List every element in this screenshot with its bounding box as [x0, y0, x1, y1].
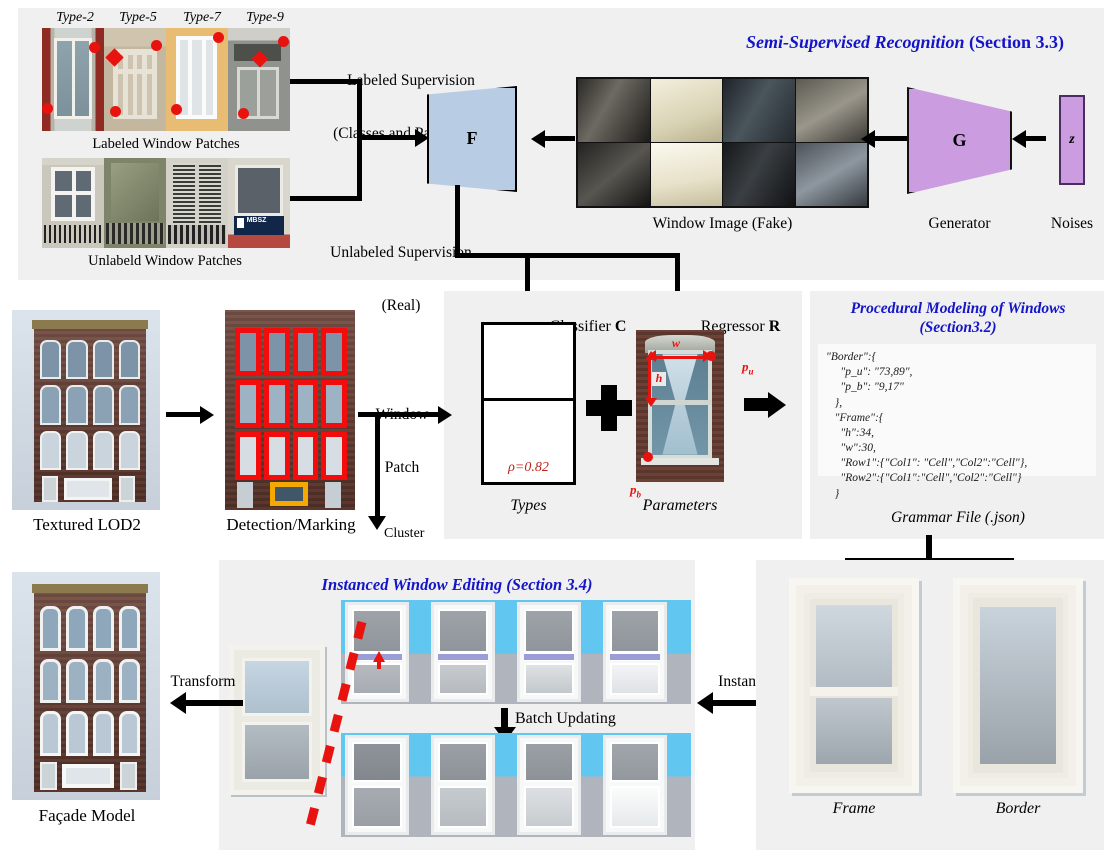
lod2-window: [93, 385, 114, 424]
detection-box: [293, 432, 319, 480]
lod2-window: [93, 340, 114, 379]
detection-box: [293, 328, 319, 376]
fake-tile: [723, 79, 795, 142]
lod2-cornice: [32, 320, 148, 329]
fake-tile: [796, 79, 868, 142]
updated-lower-sash: [610, 786, 660, 828]
figure-root: Type-2 Type-5 Type-7 Type-9: [0, 0, 1119, 857]
red-dashed-separator: [300, 618, 380, 840]
editing-row-bottom: [341, 733, 691, 837]
unlabeled-window-patches: MBSZ: [42, 158, 290, 248]
detection-box: [264, 328, 290, 376]
semi-supervised-title-main: Semi-Supervised Recognition: [746, 32, 965, 52]
supervision-bracket-bottom: [290, 196, 362, 201]
semi-supervised-title-section: (Section 3.3): [965, 32, 1064, 52]
detection-box: [321, 380, 347, 428]
updated-upper-sash: [438, 742, 488, 782]
lod2-windows: [40, 340, 140, 470]
plus-icon-bar: [586, 400, 632, 416]
transform-label: Transform: [153, 673, 253, 691]
fake-tile: [578, 79, 650, 142]
unlabeled-patch-3: MBSZ: [228, 158, 290, 248]
facade-window: [66, 606, 87, 651]
params-to-grammar-line: [744, 398, 770, 411]
noise-to-generator-line: [1023, 136, 1046, 141]
param-pu-dot: [706, 351, 716, 361]
facade-door-right: [120, 762, 137, 790]
window-patch-line2: Patch: [362, 459, 442, 477]
param-h-label: h: [652, 372, 666, 386]
lod2-window: [40, 340, 61, 379]
fake-image-caption: Window Image (Fake): [576, 215, 869, 233]
parameters-window-image: [636, 330, 724, 482]
generator-to-fake-line: [875, 136, 910, 141]
feature-extractor-label: F: [427, 128, 517, 149]
instance-upper-sash: [524, 609, 574, 653]
labeled-patch-type9: [228, 28, 290, 131]
corner-dot: [42, 103, 53, 114]
instanced-editing-title: Instanced Window Editing (Section 3.4): [222, 575, 692, 595]
corner-dot: [213, 32, 224, 43]
facade-window: [93, 659, 114, 704]
detection-caption: Detection/Marking: [205, 515, 377, 535]
param-window-mullion: [648, 400, 711, 405]
facade-window: [40, 659, 61, 704]
instance-window-updated[interactable]: [431, 735, 495, 835]
instance-arrow-head: [697, 692, 713, 714]
detection-boxes: [235, 328, 347, 480]
detection-door-right: [325, 482, 341, 508]
fake-tile: [723, 143, 795, 206]
frame-render: [789, 578, 919, 793]
window-patch-line1: Window: [362, 406, 442, 424]
type-label-2: Type-7: [172, 10, 232, 26]
fake-tile: [651, 143, 723, 206]
instance-window[interactable]: [603, 602, 667, 702]
instance-window[interactable]: [431, 602, 495, 702]
unlabeled-patch-2: [166, 158, 228, 248]
border-glass: [980, 607, 1056, 764]
facade-window: [66, 659, 87, 704]
facade-model-image: [12, 572, 160, 800]
lod2-window: [119, 431, 140, 470]
facade-windows: [40, 606, 140, 756]
cluster-branch-line: [375, 412, 380, 518]
fake-tile: [651, 79, 723, 142]
lod2-window: [93, 431, 114, 470]
cluster-label: Cluster: [384, 526, 444, 542]
frame-glass-lower: [816, 698, 892, 764]
instance-upper-sash: [610, 609, 660, 653]
corner-dot: [278, 36, 289, 47]
updated-lower-sash: [438, 786, 488, 828]
batch-updating-label: Batch Updating: [515, 710, 665, 728]
instance-blind-bar: [610, 653, 660, 661]
types-rho-value: ρ=0.82: [481, 460, 576, 476]
param-window-sill: [641, 458, 718, 466]
lod2-window: [66, 340, 87, 379]
fake-to-f-arrowhead: [531, 130, 545, 148]
instance-lower-sash: [438, 663, 488, 695]
detection-box: [264, 432, 290, 480]
updated-upper-sash: [524, 742, 574, 782]
procedural-modeling-title: Procedural Modeling of Windows (Section3…: [812, 300, 1104, 337]
instanced-title-section: (Section 3.4): [502, 575, 592, 594]
lod2-door-left: [42, 476, 58, 502]
textured-lod2-caption: Textured LOD2: [4, 515, 170, 535]
param-pu-subscript: u: [749, 367, 754, 377]
facade-door-left: [40, 762, 57, 790]
lod2-window: [119, 340, 140, 379]
generator-caption: Generator: [907, 215, 1012, 233]
f-output-vertical: [455, 185, 460, 257]
patch-sign-text: MBSZ: [247, 217, 267, 224]
fake-tile: [796, 143, 868, 206]
regressor-label-bold: R: [769, 318, 781, 335]
frame-muntin: [810, 687, 898, 696]
procedural-title-line2: (Section3.2): [812, 319, 1104, 338]
lod2-to-detection-line: [166, 412, 202, 417]
type-label-3: Type-9: [235, 10, 295, 26]
editing-row-top: [341, 600, 691, 704]
unlabeled-patch-1: [104, 158, 166, 248]
fake-to-f-line: [545, 136, 575, 141]
types-caption: Types: [481, 497, 576, 515]
params-to-grammar-arrowhead: [768, 392, 786, 418]
facade-window: [40, 711, 61, 756]
labeled-patches-caption: Labeled Window Patches: [42, 136, 290, 153]
detection-box: [235, 328, 261, 376]
labeled-patch-type2: [42, 28, 104, 131]
detection-selected-box: [270, 482, 308, 506]
param-pb-dot: [643, 452, 653, 462]
facade-window: [119, 711, 140, 756]
classifier-label-bold: C: [615, 318, 627, 335]
facade-model-caption: Façade Model: [4, 806, 170, 826]
supervision-bracket-vertical: [357, 79, 362, 201]
transform-arrow-head: [170, 692, 186, 714]
detection-box: [293, 380, 319, 428]
facade-storefront: [62, 764, 114, 788]
facade-window: [119, 659, 140, 704]
instance-window-updated[interactable]: [603, 735, 667, 835]
lod2-window: [66, 431, 87, 470]
facade-window: [93, 606, 114, 651]
instance-window[interactable]: [517, 602, 581, 702]
fake-tile: [578, 143, 650, 206]
param-pu-label: pu: [729, 345, 755, 392]
detection-box: [321, 432, 347, 480]
instance-lower-sash: [524, 663, 574, 695]
frame-glass-upper: [816, 605, 892, 687]
types-box-divider: [481, 398, 576, 401]
instance-window-updated[interactable]: [517, 735, 581, 835]
instance-blind-bar: [524, 653, 574, 661]
supervision-to-f-line: [357, 135, 417, 140]
generator-to-fake-arrowhead: [861, 130, 875, 148]
detection-box: [235, 432, 261, 480]
labeled-patch-type5: [104, 28, 166, 131]
detection-box: [264, 380, 290, 428]
type-label-0: Type-2: [45, 10, 105, 26]
updated-upper-sash: [610, 742, 660, 782]
labeled-window-patches: [42, 28, 290, 131]
detection-marking-image: [225, 310, 355, 510]
noise-caption: Noises: [1035, 215, 1109, 233]
lod2-window: [66, 385, 87, 424]
facade-window: [93, 711, 114, 756]
instance-blind-bar: [438, 653, 488, 661]
detection-box: [235, 380, 261, 428]
lod2-window: [40, 431, 61, 470]
facade-window: [40, 606, 61, 651]
instance-upper-sash: [438, 609, 488, 653]
corner-dot: [89, 42, 100, 53]
semi-supervised-title: Semi-Supervised Recognition (Section 3.3…: [700, 32, 1110, 54]
facade-window: [119, 606, 140, 651]
textured-lod2-image: [12, 310, 160, 510]
facade-window: [66, 711, 87, 756]
detection-door-left: [237, 482, 253, 508]
unlabeled-patch-0: [42, 158, 104, 248]
param-h-arrowhead-down: [645, 398, 657, 407]
updated-lower-sash: [524, 786, 574, 828]
frame-caption: Frame: [789, 800, 919, 818]
lod2-window: [40, 385, 61, 424]
lod2-window: [119, 385, 140, 424]
type-label-1: Type-5: [108, 10, 168, 26]
instanced-title-main: Instanced Window Editing: [322, 575, 503, 594]
window-patch-label: Window Patch: [362, 370, 442, 513]
grammar-file-caption: Grammar File (.json): [812, 509, 1104, 527]
border-caption: Border: [953, 800, 1083, 818]
fake-window-image: [576, 77, 869, 208]
instance-lower-sash: [610, 663, 660, 695]
labeled-patch-type7: [166, 28, 228, 131]
procedural-title-line1: Procedural Modeling of Windows: [812, 300, 1104, 319]
param-w-arrow: [652, 356, 708, 359]
transform-arrow-line: [185, 700, 243, 706]
corner-dot: [151, 40, 162, 51]
lod2-to-detection-arrowhead: [200, 406, 214, 424]
facade-cornice: [32, 584, 148, 593]
supervision-bracket-top: [290, 79, 362, 84]
corner-dot: [110, 106, 121, 117]
lod2-door-right: [119, 476, 135, 502]
generator-label: G: [907, 130, 1012, 151]
detection-box: [321, 328, 347, 376]
param-h-arrowhead-up: [645, 351, 657, 360]
noise-to-generator-arrowhead: [1012, 130, 1026, 148]
unlabeled-patches-caption: Unlabeld Window Patches: [34, 253, 296, 270]
grammar-file-code: "Border":{ "p_u": "73,89", "p_b": "9,17"…: [818, 344, 1096, 476]
param-w-label: w: [663, 337, 689, 351]
border-render: [953, 578, 1083, 793]
f-output-horizontal: [455, 253, 680, 258]
parameters-caption: Parameters: [630, 497, 730, 515]
noise-label: z: [1059, 132, 1085, 148]
lod2-storefront: [64, 478, 112, 500]
param-h-arrow: [648, 360, 651, 400]
